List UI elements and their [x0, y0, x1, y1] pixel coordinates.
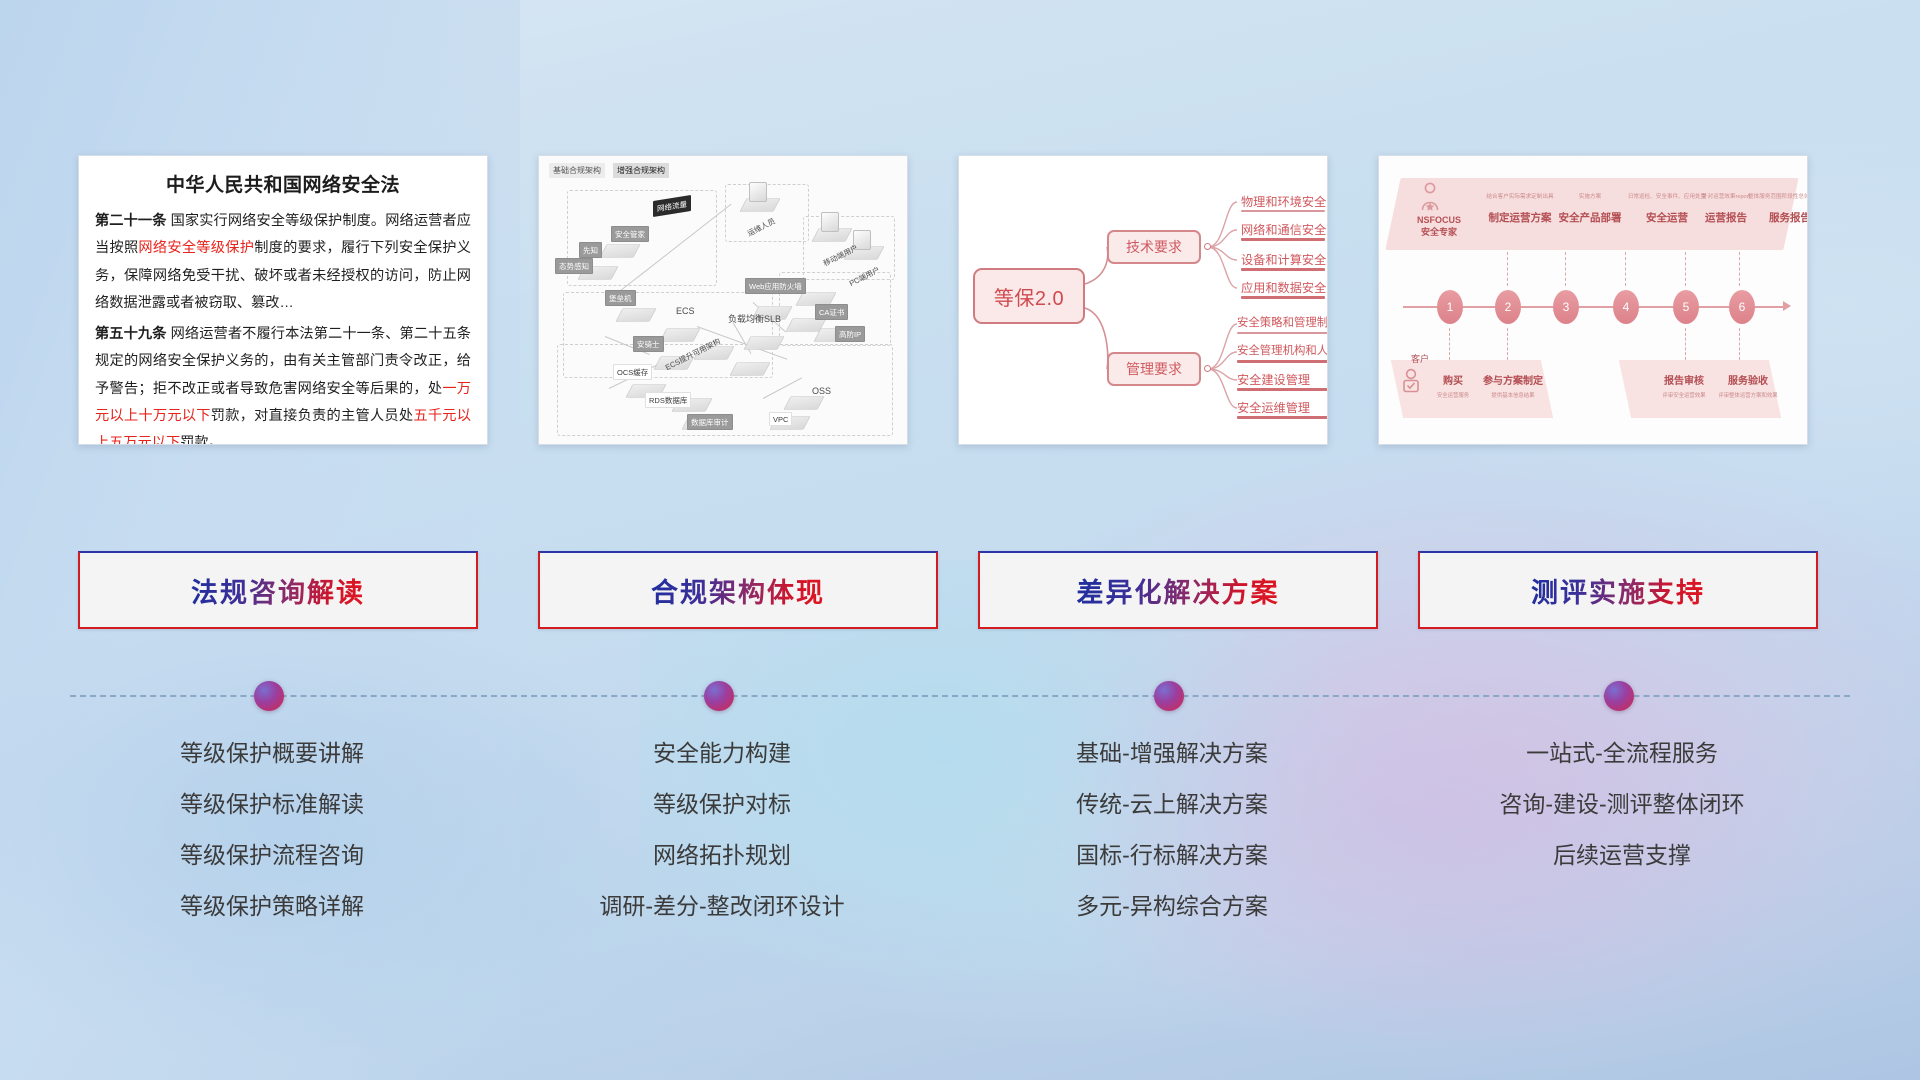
arch-label-ca-certificate: CA证书 — [815, 304, 848, 320]
list-item: 等级保护概要讲解 — [42, 742, 502, 765]
nsfocus-service-timeline-card: NSFOCUS 安全专家 结合客户实际需求定制出具 制定运营方案 实施方案 安全… — [1378, 155, 1808, 445]
nsfocus-step-number-6: 6 — [1729, 290, 1755, 324]
nsfocus-customer-label: 客户 — [1405, 352, 1435, 365]
law-card-title: 中华人民共和国网络安全法 — [95, 170, 471, 197]
arch-label-web-application-firewall: Web应用防火墙 — [745, 278, 806, 294]
nsfocus-low-title: 参与方案制定 — [1471, 372, 1555, 387]
nsfocus-connector — [1685, 328, 1686, 360]
nsfocus-brand-line1: NSFOCUS — [1401, 214, 1477, 226]
compliance-architecture-card: 基础合规架构 增强合规架构 — [538, 155, 908, 445]
pillar-title-text: 差异化解决方案 — [1077, 571, 1280, 610]
nsfocus-timeline-arrow-icon — [1783, 301, 1791, 311]
law-paragraph-21: 第二十一条 国家实行网络安全等级保护制度。网络运营者应当按照网络安全等级保护制度… — [95, 208, 471, 317]
nsfocus-step-title: 服务报告 — [1715, 210, 1808, 225]
list-item: 多元-异构综合方案 — [942, 895, 1402, 918]
arch-label-rds-database: RDS数据库 — [645, 392, 691, 408]
pillar-items-regulation-consulting: 等级保护概要讲解 等级保护标准解读 等级保护流程咨询 等级保护策略详解 — [42, 742, 502, 946]
mindmap-leaf-operations-mgmt: 安全运维管理 — [1237, 398, 1310, 416]
mindmap-leaf-org-personnel: 安全管理机构和人员 — [1237, 342, 1328, 358]
node-icon — [619, 304, 653, 326]
list-item: 安全能力构建 — [492, 742, 952, 765]
list-item: 等级保护对标 — [492, 793, 952, 816]
pillar-title-box-differentiated-solutions[interactable]: 差异化解决方案 — [978, 551, 1378, 629]
list-item: 等级保护策略详解 — [42, 895, 502, 918]
nsfocus-low-sub: 评审整体运营方案和效果 — [1705, 391, 1791, 399]
mindmap-leaf-underline — [1241, 210, 1325, 212]
list-item: 一站式-全流程服务 — [1392, 742, 1852, 765]
nsfocus-low-title: 服务验收 — [1705, 372, 1791, 387]
list-item: 调研-差分-整改闭环设计 — [492, 895, 952, 918]
pillar-title-box-regulation-consulting[interactable]: 法规咨询解读 — [78, 551, 478, 629]
list-item: 后续运营支撑 — [1392, 844, 1852, 867]
pillar-title-text: 合规架构体现 — [651, 571, 825, 610]
mindmap-leaf-underline — [1241, 296, 1325, 299]
nsfocus-customer-step-acceptance: 服务验收 评审整体运营方案和效果 — [1705, 372, 1791, 399]
list-item: 等级保护标准解读 — [42, 793, 502, 816]
arch-label-slb: 负载均衡SLB — [725, 310, 784, 326]
node-icon — [603, 240, 637, 262]
mindmap-leaf-physical-environment: 物理和环境安全 — [1241, 192, 1326, 210]
mindmap-leaf-construction-mgmt: 安全建设管理 — [1237, 370, 1310, 388]
law-text-segment: 罚款。 — [180, 435, 223, 445]
nsfocus-step-sub: 整体服务范围阶段性总体运营效果 — [1715, 192, 1808, 200]
list-item: 国标-行标解决方案 — [942, 844, 1402, 867]
nsfocus-connector — [1739, 328, 1740, 360]
dengbao-mindmap-card: 等保2.0 技术要求 管理要求 物理和环境安全 网络和通信安全 设备和计算安全 … — [958, 155, 1328, 445]
list-item: 咨询-建设-测评整体闭环 — [1392, 793, 1852, 816]
pillar-items-differentiated-solutions: 基础-增强解决方案 传统-云上解决方案 国标-行标解决方案 多元-异构综合方案 — [942, 742, 1402, 946]
nsfocus-connector — [1625, 252, 1626, 286]
nsfocus-step-number-3: 3 — [1553, 290, 1579, 324]
timeline-marker-3 — [1154, 681, 1184, 711]
nsfocus-connector — [1685, 252, 1686, 286]
law-paragraph-59: 第五十九条 网络运营者不履行本法第二十一条、第二十五条规定的网络安全保护义务的，… — [95, 321, 471, 445]
timeline-dashed-line — [70, 695, 1850, 697]
mindmap-leaf-underline — [1241, 268, 1325, 271]
mindmap-leaf-policy-system: 安全策略和管理制度 — [1237, 314, 1328, 330]
mindmap-leaf-device-computing: 设备和计算安全 — [1241, 250, 1326, 268]
nsfocus-connector — [1739, 252, 1740, 286]
mindmap-collapse-icon[interactable] — [1204, 243, 1211, 250]
expert-person-icon — [1419, 182, 1441, 212]
law-article-number: 第五十九条 — [95, 326, 167, 342]
node-icon — [747, 332, 781, 354]
timeline-marker-4 — [1604, 681, 1634, 711]
nsfocus-step-5: 整体服务范围阶段性总体运营效果 服务报告 — [1715, 192, 1808, 225]
mindmap-leaf-underline — [1237, 332, 1328, 334]
list-item: 网络拓扑规划 — [492, 844, 952, 867]
nsfocus-brand-label: NSFOCUS 安全专家 — [1401, 214, 1477, 238]
mindmap-leaf-underline — [1237, 360, 1328, 363]
arch-label-ocs-cache: OCS缓存 — [613, 364, 652, 380]
arch-label-vpc: VPC — [769, 412, 792, 426]
node-icon — [815, 224, 849, 246]
nsfocus-connector — [1507, 252, 1508, 286]
list-item: 传统-云上解决方案 — [942, 793, 1402, 816]
arch-label-bastion-host: 堡垒机 — [605, 290, 636, 306]
arch-label-database-audit: 数据库审计 — [687, 414, 733, 430]
arch-label-situational-awareness: 态势感知 — [555, 258, 593, 274]
pillar-title-text: 法规咨询解读 — [191, 571, 365, 610]
customer-person-icon — [1401, 368, 1421, 394]
timeline-marker-1 — [254, 681, 284, 711]
nsfocus-step-number-1: 1 — [1437, 290, 1463, 324]
cybersecurity-law-card: 中华人民共和国网络安全法 第二十一条 国家实行网络安全等级保护制度。网络运营者应… — [78, 155, 488, 445]
mindmap-branch-management: 管理要求 — [1107, 352, 1201, 386]
pillar-title-text: 测评实施支持 — [1531, 571, 1705, 610]
nsfocus-connector — [1565, 252, 1566, 286]
list-item: 等级保护流程咨询 — [42, 844, 502, 867]
node-icon — [663, 324, 697, 346]
nsfocus-step-number-4: 4 — [1613, 290, 1639, 324]
pillar-title-box-compliance-architecture[interactable]: 合规架构体现 — [538, 551, 938, 629]
nsfocus-low-sub: 提供基本信息结果 — [1471, 391, 1555, 399]
arch-label-xianzhi: 先知 — [579, 242, 602, 258]
law-article-number: 第二十一条 — [95, 213, 167, 229]
mindmap-leaf-underline — [1237, 416, 1328, 419]
mindmap-leaf-underline — [1237, 388, 1328, 391]
law-text-highlight: 网络安全等级保护 — [138, 240, 254, 256]
nsfocus-customer-step-participate: 参与方案制定 提供基本信息结果 — [1471, 372, 1555, 399]
architecture-canvas: 网络流量 安全管家 先知 态势感知 堡垒机 安骑士 Web应用防火墙 CA证书 … — [547, 176, 899, 436]
mindmap-leaf-network-communication: 网络和通信安全 — [1241, 220, 1326, 238]
arch-label-security-butler: 安全管家 — [611, 226, 649, 242]
pillar-items-compliance-architecture: 安全能力构建 等级保护对标 网络拓扑规划 调研-差分-整改闭环设计 — [492, 742, 952, 946]
mindmap-leaf-underline — [1241, 238, 1325, 241]
arch-label-ecs: ECS — [673, 304, 698, 317]
nsfocus-step-number-5: 5 — [1673, 290, 1699, 324]
arch-label-anti-ddos-ip: 高防IP — [835, 326, 865, 342]
arch-label-oss: OSS — [809, 384, 834, 397]
list-item: 基础-增强解决方案 — [942, 742, 1402, 765]
mindmap-branch-technical: 技术要求 — [1107, 230, 1201, 264]
law-text-segment: 罚款，对直接负责的主管人员处 — [211, 408, 414, 424]
timeline-marker-2 — [704, 681, 734, 711]
mindmap-root-node: 等保2.0 — [973, 268, 1085, 324]
arch-label-anqishi: 安骑士 — [633, 336, 664, 352]
nsfocus-brand-line2: 安全专家 — [1401, 226, 1477, 238]
mindmap-leaf-application-data: 应用和数据安全 — [1241, 278, 1326, 296]
nsfocus-step-number-2: 2 — [1495, 290, 1521, 324]
nsfocus-connector — [1507, 328, 1508, 360]
pillar-items-evaluation-support: 一站式-全流程服务 咨询-建设-测评整体闭环 后续运营支撑 — [1392, 742, 1852, 895]
nsfocus-connector — [1449, 328, 1450, 360]
nsfocus-upper-band-content: NSFOCUS 安全专家 结合客户实际需求定制出具 制定运营方案 实施方案 安全… — [1393, 178, 1791, 250]
node-icon — [733, 358, 767, 380]
pillar-title-box-evaluation-support[interactable]: 测评实施支持 — [1418, 551, 1818, 629]
mindmap-collapse-icon[interactable] — [1204, 365, 1211, 372]
